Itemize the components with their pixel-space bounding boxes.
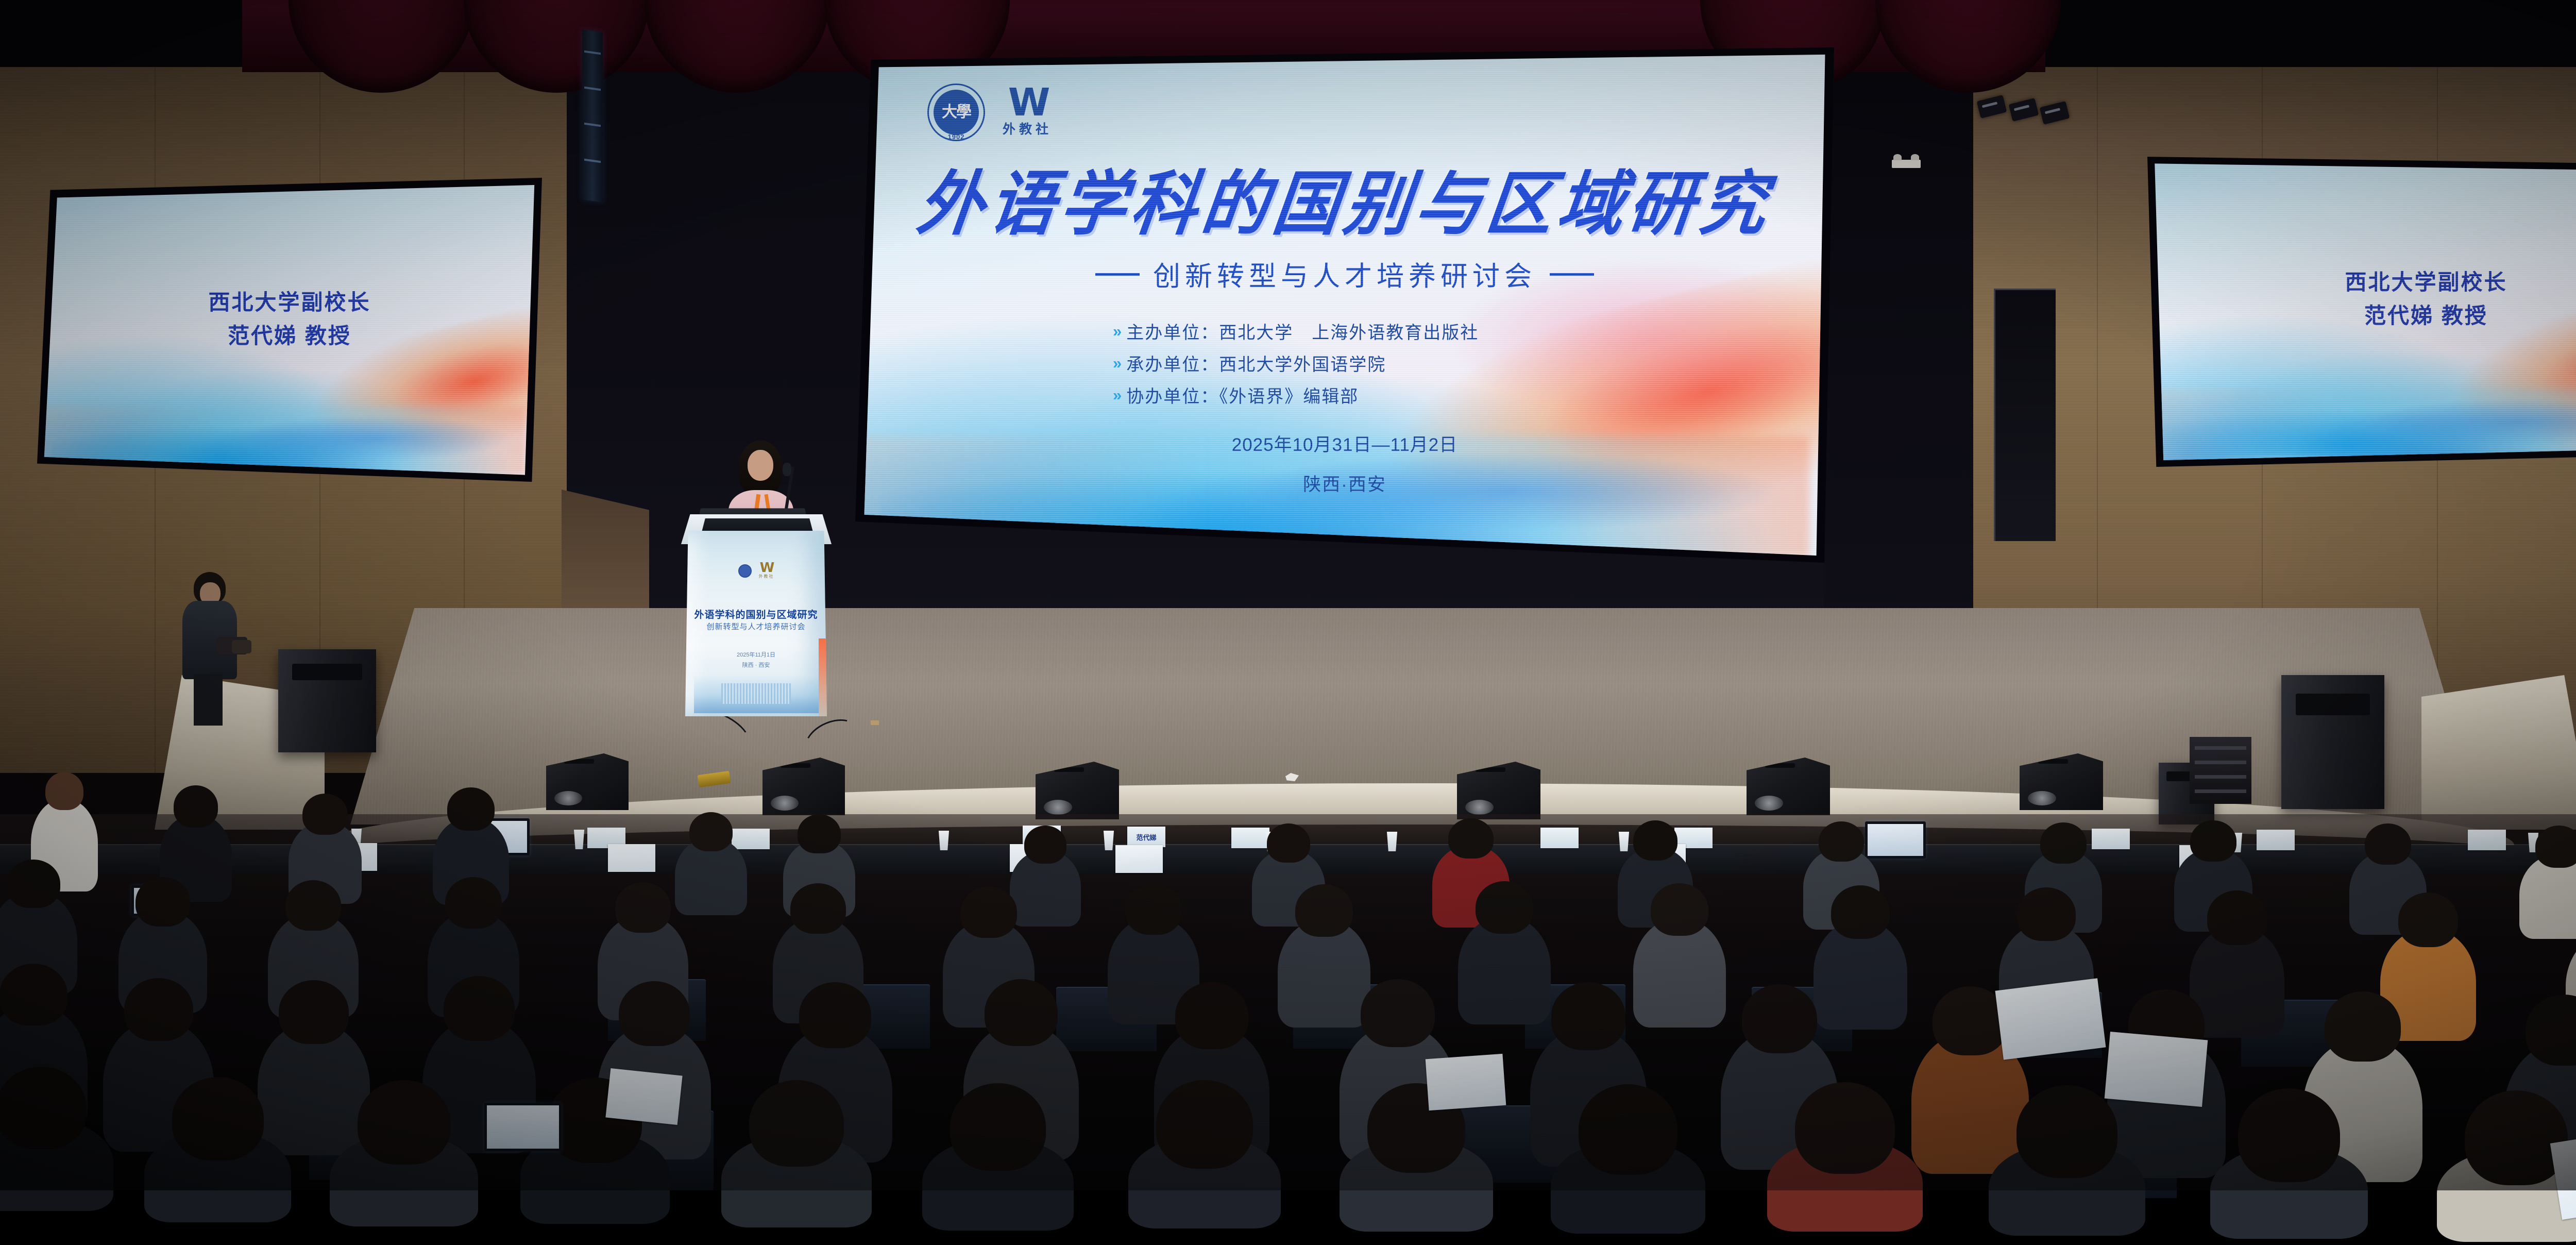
microphone-icon [783,463,791,476]
organizer-label: 承办单位：西北大学外国语学院 [1126,350,1386,376]
ceiling-shadow-right [1973,0,2576,67]
emergency-light-icon [1892,160,1921,168]
podium-university-seal-icon [738,564,752,578]
camera-lens-icon [232,640,251,653]
name-card [1231,828,1269,848]
podium-logos: W 外教社 [685,563,827,579]
name-card [2257,830,2295,850]
speaker-face [748,450,773,481]
name-card [1540,828,1579,848]
attendee [922,1138,1074,1231]
attendee [2210,1146,2368,1239]
slide-logos: 大學 1902 W 外教社 [927,83,1793,141]
organizer-row: » 承办单位：西北大学外国语学院 [1113,350,1793,376]
attendee [1814,920,1907,1030]
podium-front-panel: W 外教社 外语学科的国别与区域研究 创新转型与人才培养研讨会 2025年11月… [685,531,827,716]
organizer-label: 主办单位：西北大学 上海外语教育出版社 [1126,318,1479,344]
conference-location: 陕西·西安 [896,470,1793,496]
conference-program [608,844,655,872]
pa-speaker-right [2281,675,2384,809]
podium-location: 陕西 · 西安 [685,661,827,669]
attendee [1551,1141,1705,1234]
pa-speaker-left [278,649,376,752]
right-screen-line2: 范代娣 教授 [2153,299,2576,332]
conference-subtitle-row: 创新转型与人才培养研讨会 [896,255,1793,294]
attendee [721,1135,872,1227]
dash-left [1095,273,1140,276]
stage-step-right [2421,675,2576,830]
attendee [1128,1136,1281,1229]
attendee [0,1118,113,1211]
podium-title: 外语学科的国别与区域研究 [685,607,827,621]
attendee-laptop[interactable] [484,1103,562,1151]
podium-w-mark: W [759,563,774,574]
conference-program [1995,978,2106,1059]
attendee [1989,1143,2145,1236]
w-mark: W [1008,87,1047,119]
audience-seating-area: 曹若男 范代娣 [0,814,2576,1190]
name-card-label: 范代娣 [1127,827,1165,847]
seal-characters: 大學 [942,106,971,119]
attendee-laptop[interactable] [1865,821,1926,859]
podium-subtitle: 创新转型与人才培养研讨会 [685,621,827,632]
northwest-university-seal-icon: 大學 1902 [927,83,985,141]
chevron-right-icon: » [1113,355,1117,371]
attendee [1458,916,1551,1024]
attendee [675,838,747,915]
attendee [1278,919,1370,1028]
organizer-label: 协办单位：《外语界》编辑部 [1126,382,1359,408]
floor-debris [871,720,879,725]
attendee [258,1022,370,1155]
auditorium-scene: 大學 1902 W 外教社 外语学科的国别与区域研究 创新转型与人才培养研讨会 [0,0,2576,1190]
attendee [1340,1139,1493,1232]
name-card [2468,830,2506,850]
name-card [2092,829,2130,849]
right-screen-line1: 西北大学副校长 [2153,265,2576,299]
side-led-screen-left[interactable]: 西北大学副校长 范代娣 教授 [37,178,542,482]
podium-date: 2025年11月1日 [685,650,827,659]
side-led-screen-right[interactable]: 西北大学副校长 范代娣 教授 [2147,154,2576,467]
podium-logo-text: 外教社 [759,574,774,579]
attendee [1767,1139,1923,1232]
conference-title: 外语学科的国别与区域研究 [892,169,1798,239]
attendee [1633,918,1726,1028]
conference-program [1426,1054,1506,1111]
lectern-podium: W 外教社 外语学科的国别与区域研究 创新转型与人才培养研讨会 2025年11月… [685,531,827,716]
organizer-row: » 协办单位：《外语界》编辑部 [1113,382,1793,408]
event-photographer [178,572,240,727]
back-wall-right-dark [1824,0,1978,644]
dash-right [1550,273,1594,276]
chevron-right-icon: » [1113,387,1117,403]
conference-program [1115,845,1163,873]
left-screen-line2: 范代娣 教授 [42,319,537,352]
organizer-row: » 主办单位：西北大学 上海外语教育出版社 [1113,318,1793,344]
sflep-publisher-logo-icon: W 外教社 [1003,87,1052,138]
attendee [1010,850,1081,927]
right-screen-text: 西北大学副校长 范代娣 教授 [2153,265,2576,332]
photographer-legs [194,674,223,726]
chevron-right-icon: » [1113,323,1117,339]
attendee [144,1130,291,1222]
left-screen-text: 西北大学副校长 范代娣 教授 [42,285,537,352]
podium-building-graphic [694,675,819,713]
conference-program [605,1068,682,1125]
amplifier-rack[interactable] [2190,737,2251,804]
organizers-list: » 主办单位：西北大学 上海外语教育出版社 » 承办单位：西北大学外国语学院 »… [896,318,1793,408]
lighting-truss [582,29,603,203]
left-screen-line1: 西北大学副校长 [42,285,537,319]
conference-program [2105,1032,2208,1107]
name-card: 范代娣 [1127,827,1165,847]
main-led-screen[interactable]: 大學 1902 W 外教社 外语学科的国别与区域研究 创新转型与人才培养研讨会 [855,47,1834,563]
conference-subtitle: 创新转型与人才培养研讨会 [1153,255,1536,294]
name-card [732,829,770,849]
attendee [330,1134,478,1226]
seal-year: 1902 [929,133,984,141]
stage-door[interactable] [1994,289,2056,541]
conference-date: 2025年10月31日—11月2日 [896,430,1793,457]
